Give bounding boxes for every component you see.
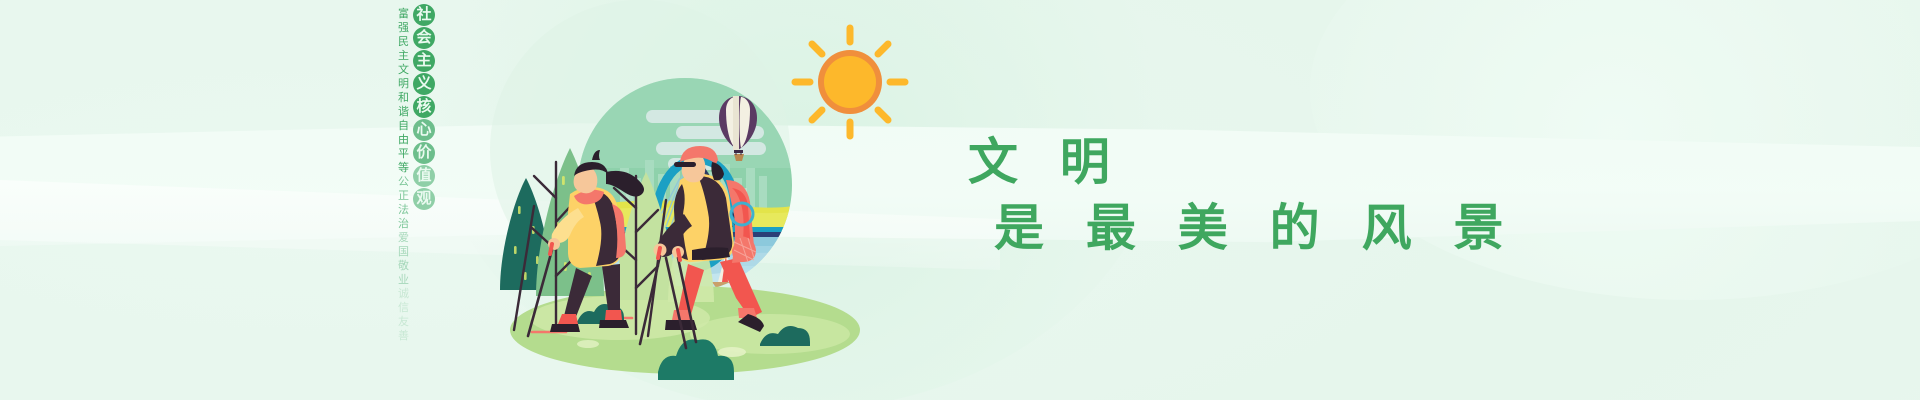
seal-value-char: 善 xyxy=(398,330,409,342)
seal-title-char: 主 xyxy=(413,50,435,72)
headline-line-2: 是 最 美 的 风 景 xyxy=(968,198,1517,258)
seal-value-char: 正 xyxy=(398,190,409,202)
seal-title-char: 义 xyxy=(413,73,435,95)
seal-title-char: 值 xyxy=(413,165,435,187)
banner: 社 会 主 义 核 心 价 值 观 富 强 民 主 文 明 和 谐 自 由 平 … xyxy=(0,0,1920,400)
seal-title-char: 会 xyxy=(413,27,435,49)
seal-title-vertical: 社 会 主 义 核 心 价 值 观 xyxy=(413,2,435,210)
seal-value-char: 主 xyxy=(398,50,409,62)
seal-value-char: 平 xyxy=(398,148,409,160)
headline-line-1: 文 明 xyxy=(968,132,1517,192)
seal-value-char: 公 xyxy=(398,176,409,188)
seal-value-char: 等 xyxy=(398,162,409,174)
seal-value-char: 和 xyxy=(398,92,409,104)
seal-value-char: 爱 xyxy=(398,232,409,244)
seal-value-char: 治 xyxy=(398,218,409,230)
seal-title-char: 核 xyxy=(413,96,435,118)
seal-value-char: 谐 xyxy=(398,106,409,118)
seal-value-char: 友 xyxy=(398,316,409,328)
seal-value-char: 业 xyxy=(398,274,409,286)
seal-value-char: 民 xyxy=(398,36,409,48)
socialist-core-values-seal: 社 会 主 义 核 心 价 值 观 富 强 民 主 文 明 和 谐 自 由 平 … xyxy=(398,2,435,342)
seal-value-char: 强 xyxy=(398,22,409,34)
seal-value-char: 文 xyxy=(398,64,409,76)
seal-title-char: 观 xyxy=(413,188,435,210)
seal-value-char: 敬 xyxy=(398,260,409,272)
seal-value-char: 信 xyxy=(398,302,409,314)
seal-value-char: 富 xyxy=(398,8,409,20)
seal-value-char: 诚 xyxy=(398,288,409,300)
seal-title-char: 心 xyxy=(413,119,435,141)
seal-value-char: 国 xyxy=(398,246,409,258)
headline: 文 明 是 最 美 的 风 景 xyxy=(968,132,1517,258)
seal-value-char: 由 xyxy=(398,134,409,146)
seal-value-char: 自 xyxy=(398,120,409,132)
hikers-illustration xyxy=(470,0,920,400)
seal-title-char: 价 xyxy=(413,142,435,164)
seal-title-char: 社 xyxy=(413,4,435,26)
seal-value-char: 明 xyxy=(398,78,409,90)
seal-value-char: 法 xyxy=(398,204,409,216)
seal-values-vertical: 富 强 民 主 文 明 和 谐 自 由 平 等 公 正 法 治 爱 国 敬 业 … xyxy=(398,2,409,342)
sun xyxy=(795,28,905,136)
